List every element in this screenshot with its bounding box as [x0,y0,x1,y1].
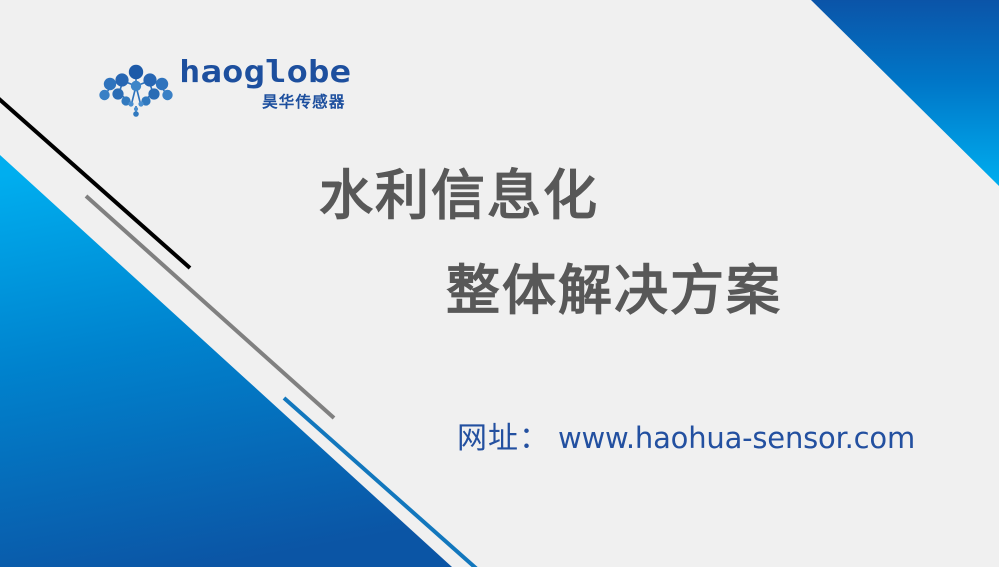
website-label: 网址： [457,420,550,458]
logo-text-group: haoglobe 昊华传感器 [179,58,348,111]
page-title-line-1: 水利信息化 [319,166,599,226]
page-title-line-2: 整体解决方案 [446,261,782,321]
logo-subtext-chinese: 昊华传感器 [262,94,346,111]
website-url[interactable]: www.haohua-sensor.com [558,419,915,457]
logo-wordmark: haoglobe [179,58,351,88]
company-logo: haoglobe 昊华传感器 [99,58,319,120]
website-line: 网址： www.haohua-sensor.com [457,419,915,458]
haoglobe-network-logo-icon [99,62,173,120]
presentation-slide: haoglobe 昊华传感器 水利信息化 整体解决方案 网址： www.haoh… [0,0,999,567]
